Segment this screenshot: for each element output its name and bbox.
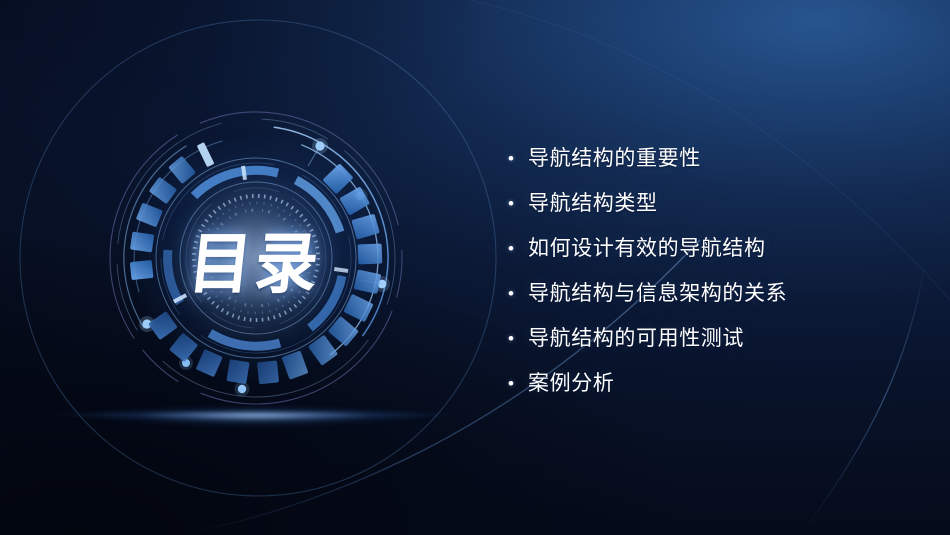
presentation-slide: 目录 • 导航结构的重要性 • 导航结构类型 • 如何设计有效的导航结构 • 导… — [0, 0, 950, 535]
center-title-text: 目录 — [185, 210, 327, 305]
list-item[interactable]: • 导航结构类型 — [508, 187, 928, 232]
table-of-contents-list: • 导航结构的重要性 • 导航结构类型 • 如何设计有效的导航结构 • 导航结构… — [508, 142, 928, 412]
list-item[interactable]: • 如何设计有效的导航结构 — [508, 232, 928, 277]
bullet-icon: • — [508, 322, 528, 356]
bullet-icon: • — [508, 277, 528, 311]
list-item-label: 导航结构的重要性 — [528, 142, 701, 176]
ring-reflection-streak — [76, 405, 436, 427]
list-item[interactable]: • 导航结构的可用性测试 — [508, 322, 928, 367]
list-item-label: 导航结构类型 — [528, 187, 658, 221]
bullet-icon: • — [508, 367, 528, 401]
list-item-label: 导航结构的可用性测试 — [528, 322, 744, 356]
center-title: 目录 — [106, 108, 406, 408]
bullet-icon: • — [508, 142, 528, 176]
bullet-icon: • — [508, 232, 528, 266]
list-item[interactable]: • 案例分析 — [508, 367, 928, 412]
list-item-label: 如何设计有效的导航结构 — [528, 232, 766, 266]
list-item[interactable]: • 导航结构与信息架构的关系 — [508, 277, 928, 322]
list-item-label: 案例分析 — [528, 367, 614, 401]
list-item[interactable]: • 导航结构的重要性 — [508, 142, 928, 187]
tech-ring-graphic: 目录 — [106, 108, 406, 408]
list-item-label: 导航结构与信息架构的关系 — [528, 277, 787, 311]
bullet-icon: • — [508, 187, 528, 221]
